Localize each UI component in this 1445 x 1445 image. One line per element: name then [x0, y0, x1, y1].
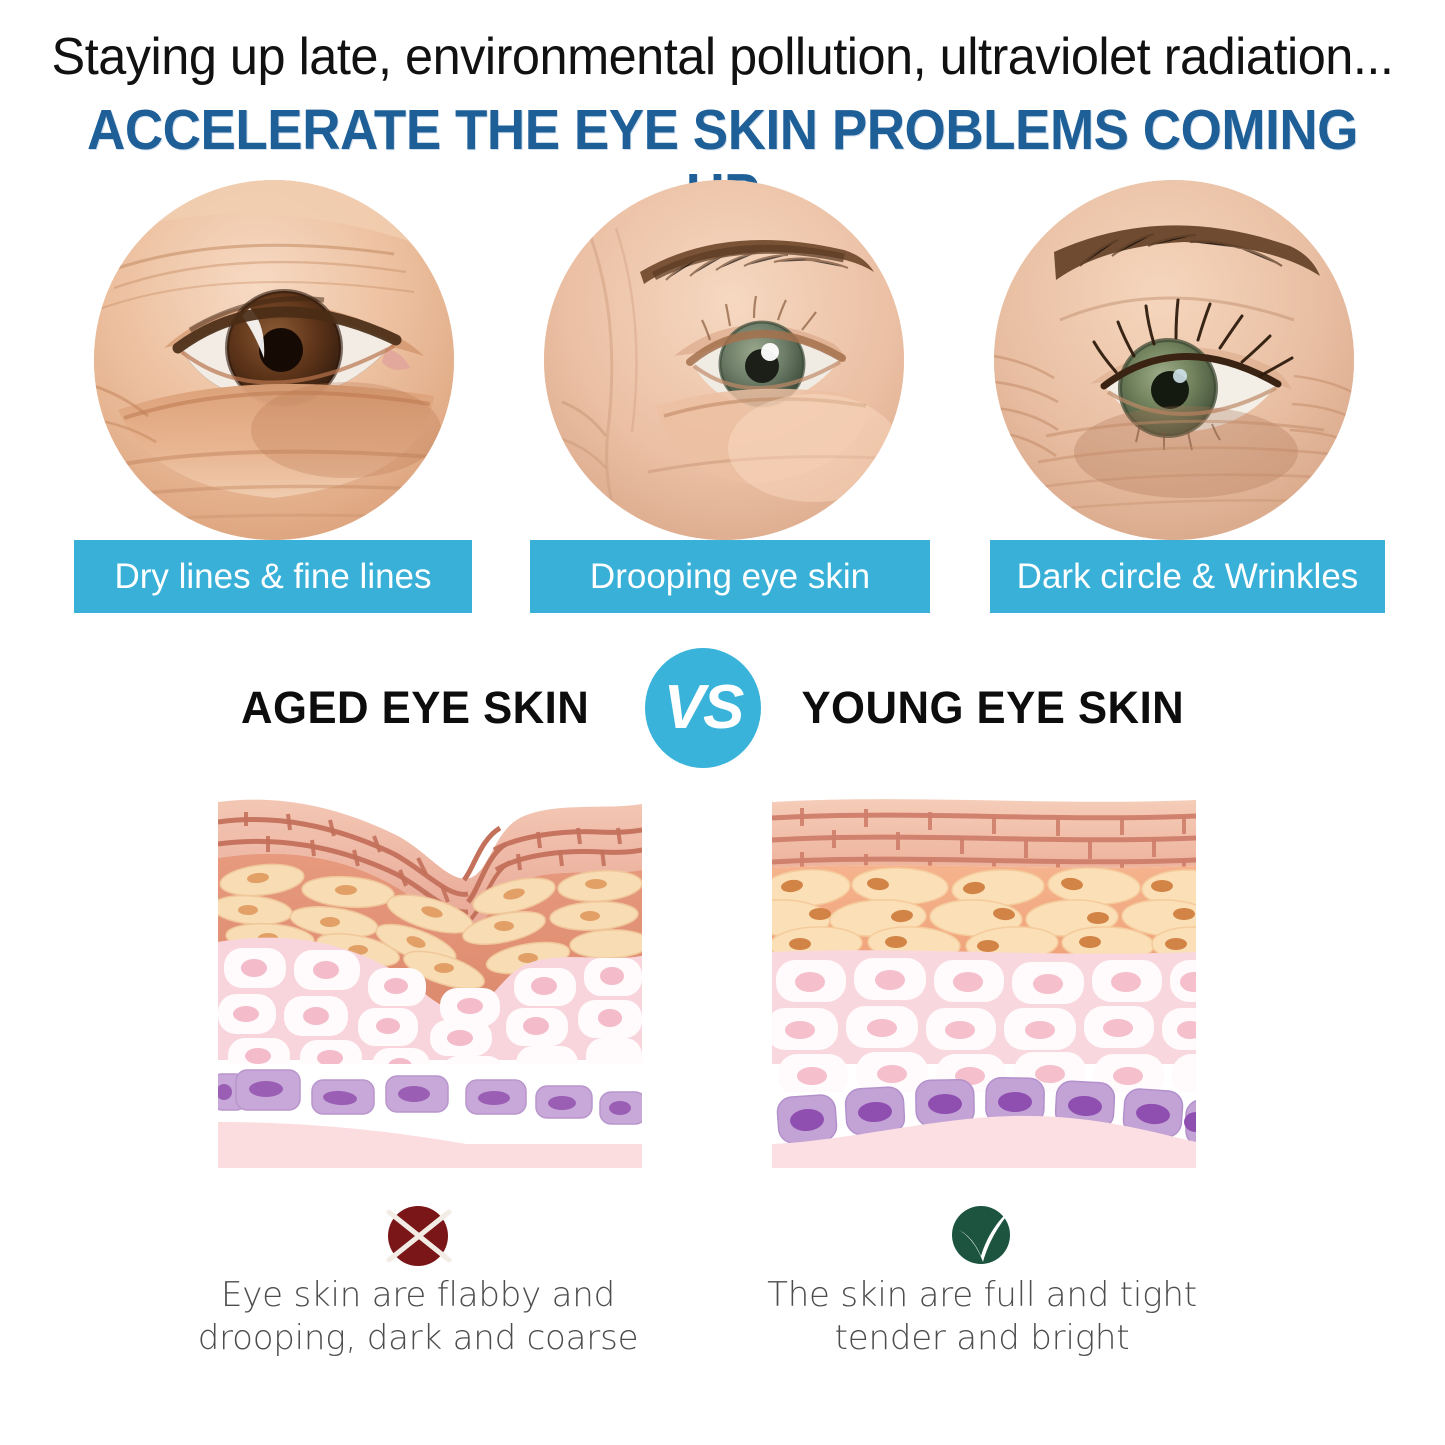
infographic-page: Staying up late, environmental pollution… [0, 0, 1445, 1445]
dark-circle-wrinkles-photo [994, 180, 1354, 540]
vs-badge: VS [645, 648, 761, 768]
verdict-young: The skin are full and tight tender and b… [722, 1200, 1242, 1360]
verdict-aged-text: Eye skin are flabby and drooping, dark a… [158, 1274, 678, 1360]
comparison-header: AGED EYE SKIN VS YOUNG EYE SKIN [0, 645, 1445, 770]
verdict-aged: Eye skin are flabby and drooping, dark a… [158, 1200, 678, 1360]
drooping-eye-skin-photo [544, 180, 904, 540]
problem-photo-row: Dry lines & fine lines [0, 180, 1445, 620]
verdict-young-text: The skin are full and tight tender and b… [722, 1274, 1242, 1360]
young-eye-skin-label: YOUNG EYE SKIN [801, 645, 1218, 770]
problem-card-drooping: Drooping eye skin [494, 180, 954, 620]
caption-dark-circle: Dark circle & Wrinkles [990, 540, 1385, 613]
problem-card-dry-lines: Dry lines & fine lines [44, 180, 504, 620]
problem-card-dark-circle: Dark circle & Wrinkles [944, 180, 1404, 620]
subheading: Staying up late, environmental pollution… [22, 26, 1424, 88]
caption-dry-lines: Dry lines & fine lines [74, 540, 472, 613]
vs-badge-label: VS [664, 672, 743, 743]
caption-drooping: Drooping eye skin [530, 540, 930, 613]
aged-skin-cross-section-diagram [218, 792, 642, 1168]
aged-eye-skin-label: AGED EYE SKIN [241, 645, 629, 770]
check-circle-icon [947, 1200, 1017, 1270]
cross-circle-icon [383, 1200, 453, 1270]
aged-eye-dry-lines-photo [94, 180, 454, 540]
young-skin-cross-section-diagram [772, 792, 1196, 1168]
